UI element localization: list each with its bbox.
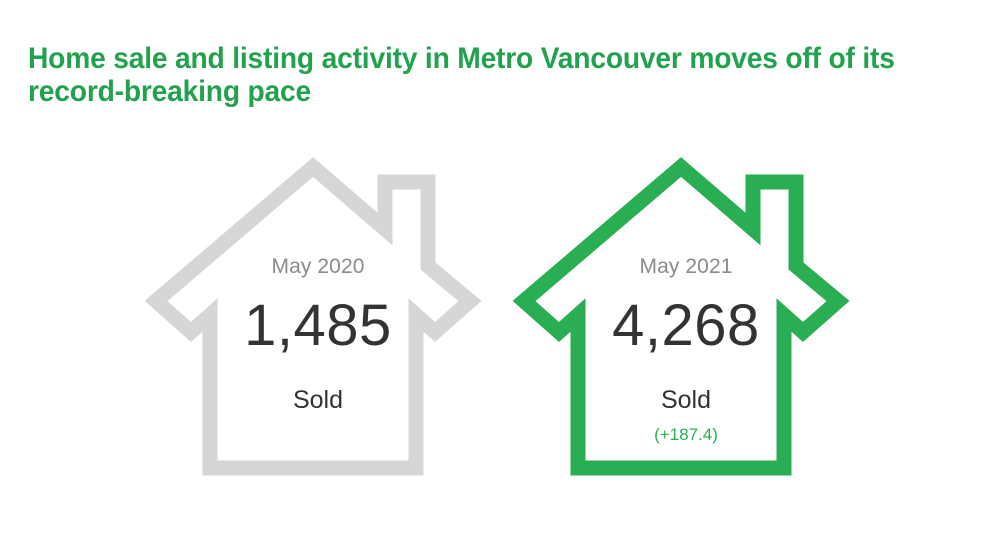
house-outline-icon <box>506 160 866 480</box>
infographic-canvas: Home sale and listing activity in Metro … <box>0 0 1001 533</box>
house-outline-path-current <box>524 167 838 468</box>
house-outline-icon <box>138 160 498 480</box>
house-card-prior-year: May 2020 1,485 Sold <box>138 160 498 480</box>
house-card-current-year: May 2021 4,268 Sold (+187.4) <box>506 160 866 480</box>
house-comparison-group: May 2020 1,485 Sold May 2021 4,268 Sold … <box>0 0 1001 533</box>
house-outline-path-prior <box>156 167 470 468</box>
